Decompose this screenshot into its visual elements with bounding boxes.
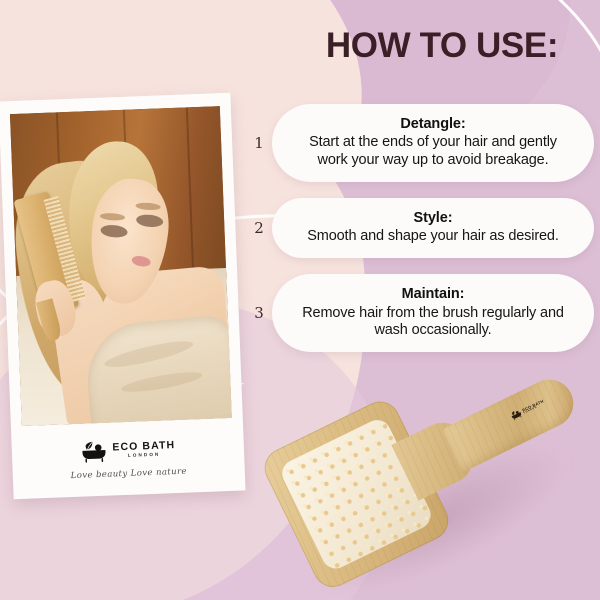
step-number: 2	[246, 219, 272, 237]
brand-location: LONDON	[128, 453, 161, 459]
bathtub-leaf-icon	[80, 440, 107, 463]
poster-canvas: ECO BATH LONDON Love beauty Love nature …	[0, 0, 600, 600]
product-brand-text: ECO BATH LONDON	[522, 399, 546, 415]
step-body: Smooth and shape your hair as desired.	[298, 228, 568, 245]
product-handle	[442, 372, 582, 473]
photo-towel-fold	[103, 337, 195, 372]
brand-logo-text: ECO BATH LONDON	[112, 440, 175, 459]
brand-tagline: Love beauty Love nature	[71, 466, 188, 480]
step-body: Start at the ends of your hair and gentl…	[298, 134, 568, 169]
brand-name: ECO BATH	[112, 440, 175, 453]
step-card[interactable]: Style: Smooth and shape your hair as des…	[272, 198, 594, 259]
photo-caption: ECO BATH LONDON Love beauty Love nature	[11, 418, 246, 499]
step-number: 1	[246, 134, 272, 152]
page-title: HOW TO USE:	[297, 28, 587, 63]
step-number: 3	[246, 304, 272, 322]
step-heading: Style:	[298, 209, 568, 227]
brand-logo: ECO BATH LONDON	[80, 438, 176, 464]
step-heading: Maintain:	[298, 285, 568, 303]
step-item: 2 Style: Smooth and shape your hair as d…	[246, 198, 594, 259]
step-item: 1 Detangle: Start at the ends of your ha…	[246, 104, 594, 182]
photo-towel-fold	[121, 369, 204, 396]
product-wood-grain	[442, 372, 582, 473]
photo-scene	[10, 106, 232, 426]
step-heading: Detangle:	[298, 115, 568, 133]
step-card[interactable]: Detangle: Start at the ends of your hair…	[272, 104, 594, 182]
photo-image	[10, 106, 232, 426]
photo-frame: ECO BATH LONDON Love beauty Love nature	[0, 93, 246, 500]
